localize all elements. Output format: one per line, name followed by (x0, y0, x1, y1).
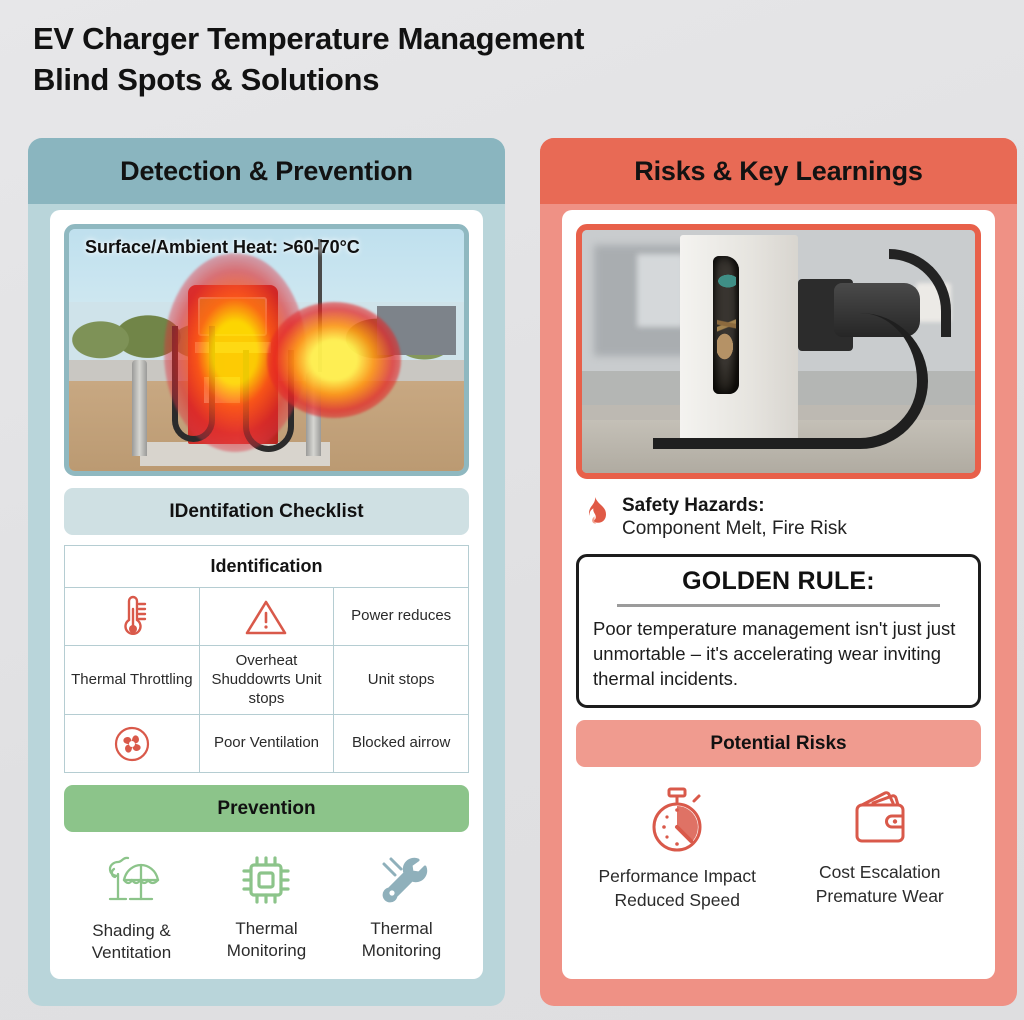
risk-item-performance: Performance Impact Reduced Speed (584, 785, 770, 912)
tree-umbrella-icon (65, 850, 199, 912)
right-panel-header: Risks & Key Learnings (540, 138, 1017, 204)
risks-learnings-panel: Risks & Key Learnings (540, 138, 1017, 1006)
table-cell-blocked-airflow: Blocked airrow (334, 715, 469, 773)
table-cell-thermal-throttling: Thermal Throttling (65, 646, 200, 715)
risk-item-line2: Premature Wear (787, 885, 973, 909)
thermometer-icon (69, 595, 195, 639)
prevention-item-label: Thermal Monitoring (200, 918, 334, 962)
prevention-item-shading: Shading & Ventitation (65, 850, 199, 964)
page-title: EV Charger Temperature Management Blind … (33, 18, 733, 100)
table-cell-poor-ventilation: Poor Ventilation (199, 715, 334, 773)
risk-items: Performance Impact Reduced Speed (576, 785, 981, 912)
page-title-line1: EV Charger Temperature Management (33, 21, 584, 56)
page-title-line2: Blind Spots & Solutions (33, 59, 733, 100)
golden-rule-body: Poor temperature management isn't just j… (593, 617, 964, 691)
risk-item-label: Cost Escalation Premature Wear (787, 861, 973, 908)
prevention-item-chip: Thermal Monitoring (200, 850, 334, 962)
infographic-page: EV Charger Temperature Management Blind … (0, 0, 1024, 1020)
fan-icon (69, 725, 195, 763)
prevention-pill: Prevention (64, 785, 469, 832)
wrench-icon (335, 850, 469, 910)
chip-icon (200, 850, 334, 910)
risk-item-cost: Cost Escalation Premature Wear (787, 785, 973, 908)
table-row: Power reduces (65, 588, 469, 646)
heat-overlay-label: Surface/Ambient Heat: >60-70°C (85, 237, 360, 258)
prevention-item-label: Shading & Ventitation (65, 920, 199, 964)
golden-rule-divider (617, 604, 940, 607)
table-column-header: Identification (65, 546, 469, 588)
warning-triangle-icon (204, 597, 330, 637)
thermal-hotspot-ground (267, 302, 401, 418)
risk-item-label: Performance Impact Reduced Speed (584, 865, 770, 912)
prevention-item-label: Thermal Monitoring (335, 918, 469, 962)
left-panel-header: Detection & Prevention (28, 138, 505, 204)
safety-hazards-subtitle: Component Melt, Fire Risk (622, 518, 847, 540)
identification-table: Identification (64, 545, 469, 773)
risk-item-line2: Reduced Speed (584, 889, 770, 913)
right-panel-body: Safety Hazards: Component Melt, Fire Ris… (562, 210, 995, 979)
flame-icon (580, 495, 610, 535)
prevention-item-wrench: Thermal Monitoring (335, 850, 469, 962)
risk-item-line1: Cost Escalation (787, 861, 973, 885)
fan-cell (65, 715, 200, 773)
wallet-icon (787, 785, 973, 851)
photo-cable-loop (653, 313, 928, 449)
table-row: Poor Ventilation Blocked airrow (65, 715, 469, 773)
prevention-label: Prevention (217, 798, 315, 820)
thermometer-cell (65, 588, 200, 646)
table-cell-power-reduces: Power reduces (334, 588, 469, 646)
stopwatch-icon (584, 785, 770, 855)
golden-rule-title: GOLDEN RULE: (593, 567, 964, 596)
potential-risks-label: Potential Risks (710, 733, 846, 755)
table-header-row: Identification (65, 546, 469, 588)
table-row: Thermal Throttling Overheat Shuddowrts U… (65, 646, 469, 715)
photo-bollard-left (132, 360, 147, 457)
left-panel-header-label: Detection & Prevention (120, 156, 413, 187)
risk-item-line1: Performance Impact (584, 865, 770, 889)
detection-prevention-panel: Detection & Prevention (28, 138, 505, 1006)
safety-hazards-text: Safety Hazards: Component Melt, Fire Ris… (622, 495, 847, 540)
table-cell-unit-stops: Unit stops (334, 646, 469, 715)
golden-rule-box: GOLDEN RULE: Poor temperature management… (576, 554, 981, 708)
damaged-charger-photo (576, 224, 981, 479)
identification-checklist-pill: IDentifation Checklist (64, 488, 469, 535)
safety-hazards-block: Safety Hazards: Component Melt, Fire Ris… (576, 495, 981, 540)
safety-hazards-title: Safety Hazards: (622, 495, 847, 517)
table-cell-overheat-shutdowns: Overheat Shuddowrts Unit stops (199, 646, 334, 715)
identification-checklist-label: IDentifation Checklist (169, 501, 363, 523)
prevention-items: Shading & Ventitation (64, 850, 469, 964)
potential-risks-pill: Potential Risks (576, 720, 981, 767)
left-panel-body: Surface/Ambient Heat: >60-70°C IDentifat… (50, 210, 483, 979)
thermal-heat-photo: Surface/Ambient Heat: >60-70°C (64, 224, 469, 476)
right-panel-header-label: Risks & Key Learnings (634, 156, 922, 187)
warning-cell (199, 588, 334, 646)
